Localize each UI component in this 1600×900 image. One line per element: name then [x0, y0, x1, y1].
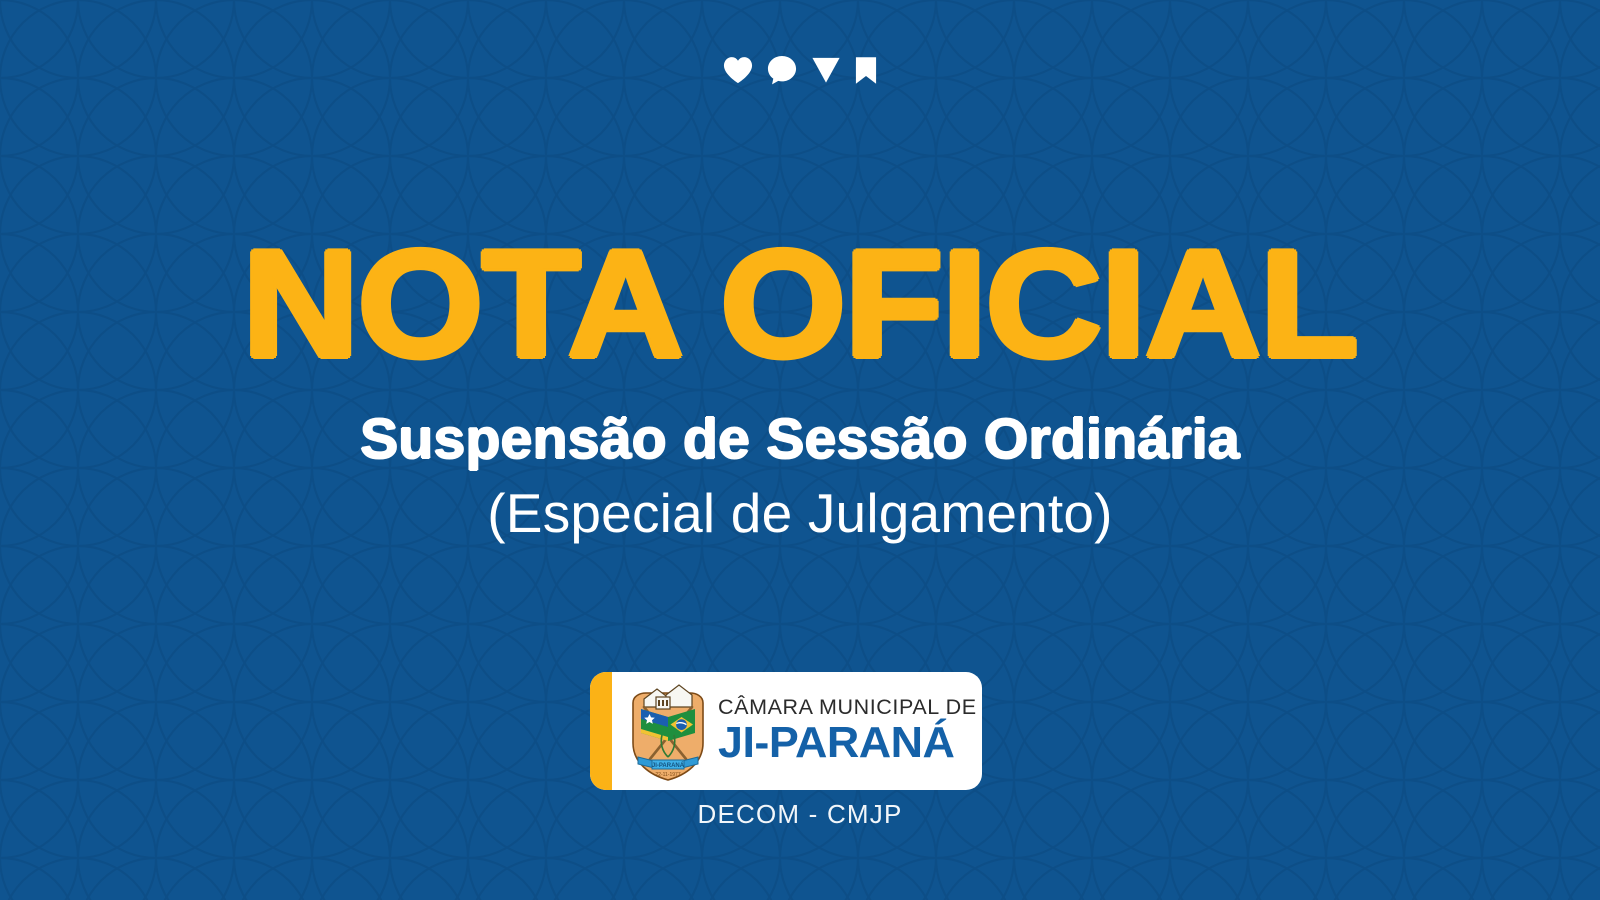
institution-logo-card: JI-PARANÁ 22-11-1977 CÂMARA MUNICIPAL DE… — [590, 672, 982, 790]
logo-accent-bar — [590, 672, 612, 790]
social-action-bar — [0, 54, 1600, 86]
send-icon[interactable] — [811, 56, 841, 84]
subtitle-primary: Suspensão de Sessão Ordinária — [0, 410, 1600, 470]
bookmark-icon[interactable] — [855, 56, 877, 85]
headline-block: NOTA OFICIAL Suspensão de Sessão Ordinár… — [0, 228, 1600, 543]
svg-text:JI-PARANÁ: JI-PARANÁ — [652, 762, 685, 769]
comment-icon[interactable] — [767, 55, 797, 85]
logo-line-secondary: JI-PARANÁ — [718, 721, 982, 765]
logo-line-primary: CÂMARA MUNICIPAL DE — [718, 697, 982, 719]
credit-line: DECOM - CMJP — [0, 799, 1600, 830]
logo-text-block: CÂMARA MUNICIPAL DE JI-PARANÁ — [714, 697, 982, 766]
subtitle-secondary: (Especial de Julgamento) — [0, 484, 1600, 543]
logo-inner: JI-PARANÁ 22-11-1977 CÂMARA MUNICIPAL DE… — [612, 672, 982, 790]
heart-icon[interactable] — [723, 56, 753, 84]
page-title: NOTA OFICIAL — [0, 228, 1600, 380]
poster-canvas: NOTA OFICIAL Suspensão de Sessão Ordinár… — [0, 0, 1600, 900]
svg-text:22-11-1977: 22-11-1977 — [655, 772, 680, 778]
coat-of-arms-icon: JI-PARANÁ 22-11-1977 — [622, 675, 714, 787]
